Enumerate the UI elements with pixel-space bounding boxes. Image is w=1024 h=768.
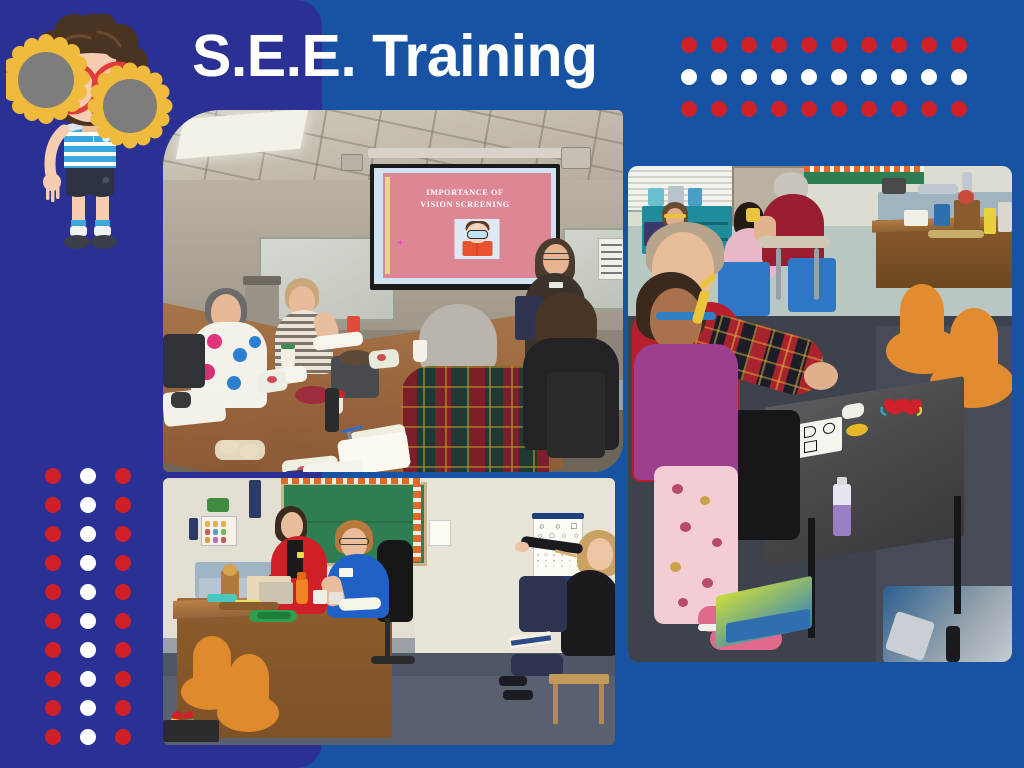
dot: [45, 497, 61, 513]
dot: [921, 37, 937, 53]
tissue-box: [313, 590, 327, 604]
dot: [80, 497, 96, 513]
dot: [801, 69, 817, 85]
dot: [45, 671, 61, 687]
dot: [711, 37, 727, 53]
dot: [951, 37, 967, 53]
top-right-dot-grid: [681, 37, 981, 133]
dot: [80, 555, 96, 571]
cable: [946, 626, 960, 662]
dot: [681, 69, 697, 85]
child-vision-screening-photo: [628, 166, 1012, 662]
dot: [80, 468, 96, 484]
bottom-left-dot-grid: [45, 468, 150, 758]
dot: [115, 526, 131, 542]
dot: [115, 468, 131, 484]
classroom-screening-practice-photo: ○○□ ○□○○ □○○□○ ○□○○□○ □○□○○□ ○□○□○□: [163, 478, 615, 745]
dot: [80, 584, 96, 600]
dot: [115, 613, 131, 629]
dot: [951, 69, 967, 85]
projector-screen: IMPORTANCE OF VISION SCREENING: [370, 164, 560, 290]
dot: [771, 69, 787, 85]
dot: [741, 37, 757, 53]
dot: [861, 69, 877, 85]
presentation-slide: IMPORTANCE OF VISION SCREENING: [383, 173, 551, 278]
chair: [547, 372, 605, 458]
dot: [80, 642, 96, 658]
water-bottle: [325, 388, 339, 432]
dot: [831, 37, 847, 53]
dot: [921, 69, 937, 85]
dot: [771, 37, 787, 53]
boy-with-glasses-mascot: I I: [6, 14, 174, 258]
coffee-cup: [413, 340, 427, 362]
training-room-presentation-photo: IMPORTANCE OF VISION SCREENING: [163, 110, 623, 472]
slide-canvas: S.E.E. Training I I: [0, 0, 1024, 768]
slide-illustration: [455, 219, 500, 259]
dot: [80, 526, 96, 542]
wooden-stool: [549, 674, 609, 684]
dot: [45, 468, 61, 484]
dot: [891, 37, 907, 53]
occluder-right: [88, 63, 173, 149]
coffee-cup: [281, 348, 295, 368]
slide-heading-line-2: VISION SCREENING: [383, 199, 547, 211]
floor-cushion-back: [229, 654, 269, 700]
desk-item: [207, 594, 237, 602]
can: [984, 208, 996, 234]
dot: [45, 700, 61, 716]
floor-mat: [163, 720, 219, 742]
dot: [771, 101, 787, 117]
sink-faucet: [918, 184, 958, 194]
dot: [80, 671, 96, 687]
classroom-table: [758, 236, 830, 248]
screener-hand: [804, 362, 838, 390]
dot: [891, 69, 907, 85]
decor-box: [954, 200, 980, 230]
dot: [45, 729, 61, 745]
dot: [891, 101, 907, 117]
floor-cushion-back: [193, 636, 231, 678]
dot: [115, 729, 131, 745]
classroom-chair: [788, 258, 836, 312]
dot: [801, 101, 817, 117]
dot: [861, 37, 877, 53]
dot: [741, 101, 757, 117]
dot: [80, 613, 96, 629]
container: [934, 204, 950, 226]
dot: [115, 555, 131, 571]
water-bottle: [296, 578, 308, 604]
paper: [339, 597, 382, 611]
dot: [115, 700, 131, 716]
floor-cushion-back: [900, 284, 944, 338]
dot: [801, 37, 817, 53]
dot: [45, 584, 61, 600]
dot: [921, 101, 937, 117]
dot: [741, 69, 757, 85]
dot: [831, 69, 847, 85]
dot: [45, 642, 61, 658]
dot: [115, 642, 131, 658]
dot: [45, 613, 61, 629]
dot: [115, 497, 131, 513]
dot: [80, 729, 96, 745]
dot: [115, 584, 131, 600]
dot: [681, 37, 697, 53]
dot: [80, 700, 96, 716]
page-title: S.E.E. Training: [192, 26, 598, 88]
floor-cushion-back: [950, 308, 998, 366]
slide-heading-line-1: IMPORTANCE OF: [383, 187, 547, 199]
heart-sunglasses-occluder: [880, 398, 922, 416]
svg-text:I: I: [92, 135, 95, 147]
dot: [711, 101, 727, 117]
dot: [831, 101, 847, 117]
svg-text:I: I: [102, 176, 105, 186]
tissue-box: [904, 210, 928, 226]
dot: [115, 671, 131, 687]
dot: [681, 101, 697, 117]
eye-chart-poster: [598, 238, 623, 280]
dot: [861, 101, 877, 117]
chair: [163, 334, 205, 388]
storage-bin: [648, 188, 664, 206]
dot: [45, 526, 61, 542]
dot: [45, 555, 61, 571]
dot: [711, 69, 727, 85]
dot: [951, 101, 967, 117]
sanitizer-spray-bottle: [833, 484, 851, 536]
